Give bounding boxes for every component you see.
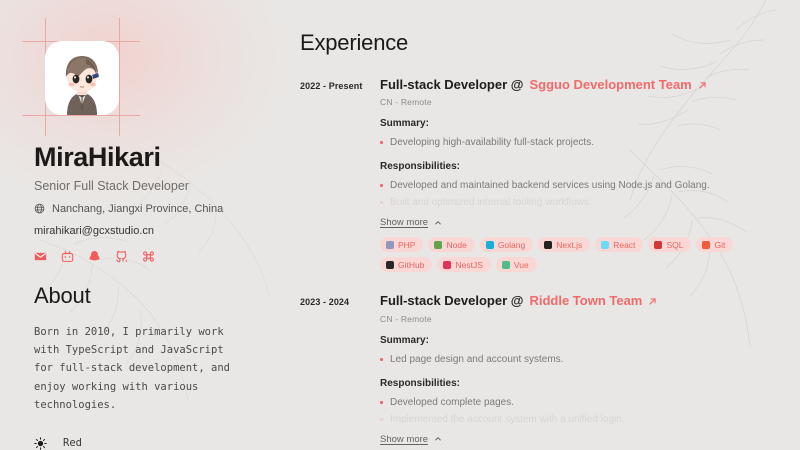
summary-list: Led page design and account systems. [380, 352, 776, 367]
list-item: Developed complete pages. [380, 395, 776, 410]
summary-label: Summary: [380, 118, 776, 129]
chevron-up-icon [434, 435, 442, 443]
tech-tag-icon [434, 241, 442, 249]
external-link-icon[interactable] [698, 81, 707, 90]
qq-icon[interactable] [88, 250, 101, 263]
tech-tag[interactable]: Next.js [538, 237, 590, 252]
tech-tag-icon [386, 261, 394, 269]
tech-tag-icon [486, 241, 494, 249]
section-title: Experience [300, 30, 776, 56]
list-item: Developed and maintained backend service… [380, 178, 776, 193]
tech-tag-icon [544, 241, 552, 249]
show-more-label: Show more [380, 217, 428, 228]
entry-heading: Full-stack Developer @ Sgguo Development… [380, 77, 776, 93]
tech-tag[interactable]: React [595, 237, 643, 252]
tech-tag[interactable]: Vue [496, 257, 537, 272]
responsibilities-label: Responsibilities: [380, 161, 776, 172]
tech-tag[interactable]: Golang [480, 237, 533, 252]
entry-title-prefix: Full-stack Developer @ [380, 77, 523, 93]
tech-tag-icon [386, 241, 394, 249]
list-item: Led page design and account systems. [380, 352, 776, 367]
entry-date: 2022 - Present [300, 77, 380, 272]
tech-tag-icon [601, 241, 609, 249]
responsibilities-label: Responsibilities: [380, 378, 776, 389]
profile-location-text: Nanchang, Jiangxi Province, China [52, 203, 223, 215]
entry-meta: CN - Remote [380, 97, 776, 107]
external-link-icon[interactable] [648, 297, 657, 306]
experience-panel: Experience 2022 - Present Full-stack Dev… [290, 0, 800, 450]
experience-entry: 2023 - 2024 Full-stack Developer @ Riddl… [300, 293, 776, 450]
show-more-toggle[interactable]: Show more [380, 434, 442, 445]
tech-tag[interactable]: GitHub [380, 257, 432, 272]
entry-title-prefix: Full-stack Developer @ [380, 293, 523, 309]
mail-icon[interactable] [34, 250, 47, 263]
profile-name: MiraHikari [34, 143, 290, 173]
guide-line-vertical-right [119, 18, 120, 136]
responsibilities-list: Developed complete pages. Implemented th… [380, 395, 776, 427]
tech-tag[interactable]: SQL [648, 237, 691, 252]
tech-tag-label: React [613, 240, 635, 250]
resume-page: MiraHikari Senior Full Stack Developer N… [0, 0, 800, 450]
profile-sidebar: MiraHikari Senior Full Stack Developer N… [0, 0, 290, 450]
tech-tag-label: NestJS [455, 260, 482, 270]
avatar[interactable] [45, 41, 119, 115]
show-more-toggle[interactable]: Show more [380, 217, 442, 228]
list-item: Developing high-availability full-stack … [380, 135, 776, 150]
theme-switcher[interactable]: Red [34, 437, 290, 450]
entry-heading: Full-stack Developer @ Riddle Town Team [380, 293, 776, 309]
tech-tag-label: Node [446, 240, 466, 250]
theme-name-label: Red [63, 437, 82, 449]
profile-email[interactable]: mirahikari@gcxstudio.cn [34, 225, 290, 237]
about-title: About [34, 283, 290, 309]
list-item: Implemented the account system with a un… [380, 412, 776, 427]
summary-label: Summary: [380, 335, 776, 346]
tech-tag-icon [654, 241, 662, 249]
guide-line-horizontal-bottom [22, 115, 140, 116]
entry-meta: CN - Remote [380, 314, 776, 324]
globe-icon [34, 203, 45, 214]
entry-company-link[interactable]: Sgguo Development Team [529, 77, 691, 93]
command-icon[interactable] [142, 250, 155, 263]
experience-entry: 2022 - Present Full-stack Developer @ Sg… [300, 77, 776, 272]
summary-list: Developing high-availability full-stack … [380, 135, 776, 150]
chevron-up-icon [434, 219, 442, 227]
tech-tag-icon [702, 241, 710, 249]
profile-location: Nanchang, Jiangxi Province, China [34, 203, 290, 215]
show-more-label: Show more [380, 434, 428, 445]
entry-date: 2023 - 2024 [300, 293, 380, 450]
tech-tag-label: GitHub [398, 260, 424, 270]
avatar-container [34, 30, 130, 126]
list-item: Built and optimized internal tooling wor… [380, 195, 776, 210]
social-links [34, 250, 290, 263]
tech-tag-icon [502, 261, 510, 269]
entry-company-link[interactable]: Riddle Town Team [529, 293, 642, 309]
responsibilities-list: Developed and maintained backend service… [380, 178, 776, 210]
tech-tag-label: PHP [398, 240, 415, 250]
tech-tag-label: Vue [514, 260, 529, 270]
github-icon[interactable] [115, 250, 128, 263]
about-text: Born in 2010, I primarily work with Type… [34, 323, 234, 415]
tech-tag-label: SQL [666, 240, 683, 250]
tech-tag[interactable]: Git [696, 237, 733, 252]
tech-tag-label: Next.js [556, 240, 582, 250]
tech-tag-list: PHPNodeGolangNext.jsReactSQLGitGitHubNes… [380, 237, 775, 272]
tech-tag[interactable]: Node [428, 237, 474, 252]
tech-tag[interactable]: NestJS [437, 257, 490, 272]
tech-tag-label: Golang [498, 240, 525, 250]
tech-tag[interactable]: PHP [380, 237, 423, 252]
profile-role: Senior Full Stack Developer [34, 179, 290, 193]
bilibili-icon[interactable] [61, 250, 74, 263]
tech-tag-icon [443, 261, 451, 269]
sun-icon [34, 437, 47, 450]
tech-tag-label: Git [714, 240, 725, 250]
